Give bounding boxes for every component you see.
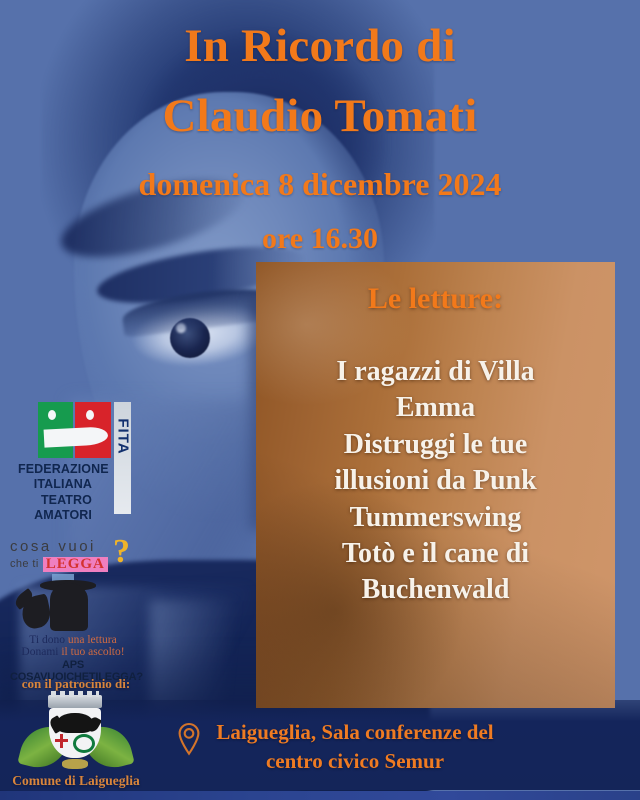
cosa-vuoi-legga: LEGGA: [43, 557, 108, 572]
sponsor-sidebar: FITA FEDERAZIONE ITALIANA TEATRO AMATORI…: [0, 402, 150, 683]
fita-name-line-2: ITALIANA: [18, 477, 92, 492]
reader-silhouette-icon: [50, 583, 88, 631]
cosa-vuoi-che-ti-legga-logo: cosa vuoi ? che tiLEGGA Ti dono una lett…: [10, 539, 136, 683]
tagline-1-emphasis: una lettura: [68, 634, 117, 646]
venue-address: Laigueglia, Sala conferenze del centro c…: [216, 718, 493, 776]
list-item: Tummerswing: [270, 500, 601, 536]
list-item: Buchenwald: [270, 572, 601, 608]
event-date: domenica 8 dicembre 2024: [0, 166, 640, 203]
fita-masks-icon: FITA: [38, 402, 138, 458]
venue-line-1: Laigueglia, Sala conferenze del: [216, 718, 493, 747]
readings-panel: Le letture: I ragazzi di Villa Emma Dist…: [256, 262, 615, 708]
cosa-vuoi-illustration: [10, 574, 136, 632]
readings-list: I ragazzi di Villa Emma Distruggi le tue…: [270, 354, 601, 609]
venue-line-2: centro civico Semur: [216, 747, 493, 776]
cosa-vuoi-tagline-2: Donami il tuo ascolto!: [10, 646, 136, 658]
fita-red-mask-eye-icon: [86, 410, 94, 420]
venue-block: Laigueglia, Sala conferenze del centro c…: [0, 718, 640, 776]
fita-acronym-bar: FITA: [114, 402, 131, 514]
fita-name-line-4: AMATORI: [18, 508, 92, 523]
tagline-2-prefix: Donami: [21, 646, 61, 658]
cosa-vuoi-che-ti: che ti: [10, 558, 39, 570]
list-item: Totò e il cane di: [270, 536, 601, 572]
fita-full-name: FEDERAZIONE ITALIANA TEATRO AMATORI: [18, 462, 92, 523]
poster-title-line-1: In Ricordo di: [0, 22, 640, 71]
list-item: Distruggi le tue: [270, 427, 601, 463]
list-item: illusioni da Punk: [270, 463, 601, 499]
event-time: ore 16.30: [0, 222, 640, 256]
fita-acronym-text: FITA: [115, 414, 132, 460]
question-mark-icon: ?: [113, 535, 130, 569]
fita-logo: FITA FEDERAZIONE ITALIANA TEATRO AMATORI: [10, 402, 130, 523]
fita-green-mask-eye-icon: [48, 410, 56, 420]
poster-header: In Ricordo di Claudio Tomati domenica 8 …: [0, 0, 640, 256]
readings-heading: Le letture:: [270, 282, 601, 316]
patrocinio-label: con il patrocinio di:: [0, 676, 152, 692]
poster-canvas: In Ricordo di Claudio Tomati domenica 8 …: [0, 0, 640, 800]
bottom-edge-strip: [0, 791, 640, 800]
fita-name-line-3: TEATRO: [18, 493, 92, 508]
cosa-vuoi-tagline-1: Ti dono una lettura: [10, 634, 136, 646]
tagline-2-emphasis: il tuo ascolto!: [61, 646, 124, 658]
list-item: Emma: [270, 390, 601, 426]
list-item: I ragazzi di Villa: [270, 354, 601, 390]
fita-name-line-1: FEDERAZIONE: [18, 462, 92, 477]
crest-crown-icon: [48, 695, 102, 708]
poster-title-line-2: Claudio Tomati: [0, 92, 640, 141]
tagline-1-prefix: Ti dono: [29, 634, 68, 646]
location-pin-icon: [176, 722, 202, 761]
